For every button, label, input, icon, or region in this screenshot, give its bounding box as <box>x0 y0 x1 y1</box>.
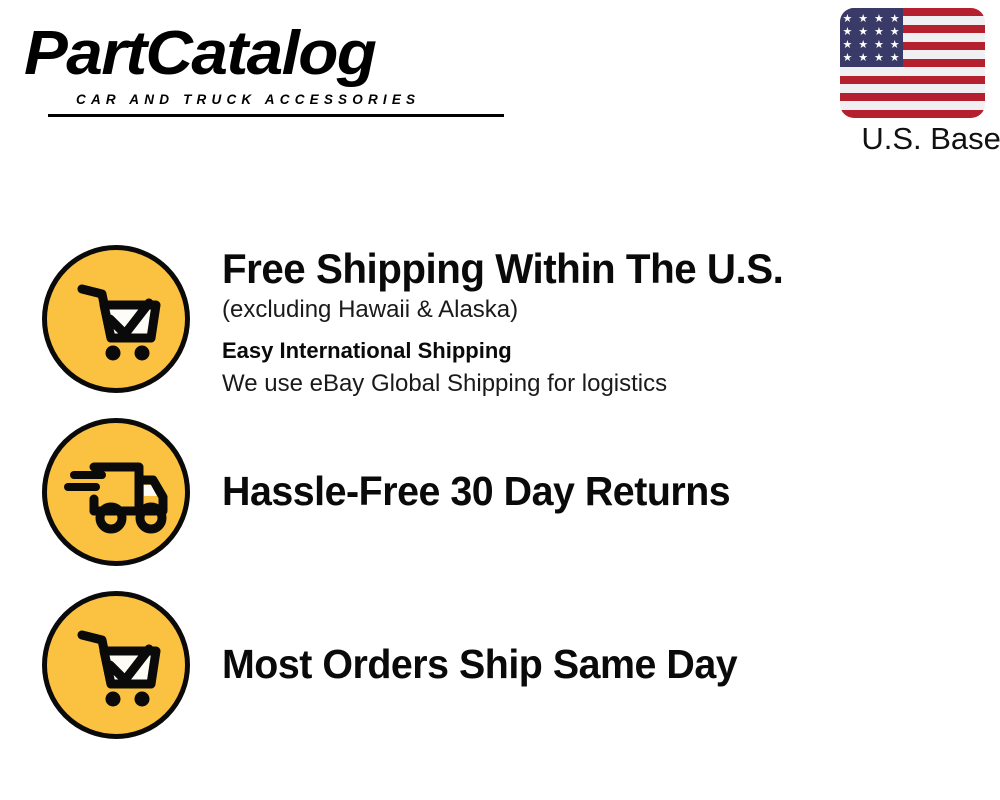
feature-headline: Free Shipping Within The U.S. <box>222 245 952 293</box>
feature-text-block: Most Orders Ship Same Day <box>222 639 982 689</box>
feature-sub-detail: We use eBay Global Shipping for logistic… <box>222 367 982 401</box>
feature-subline: (excluding Hawaii & Alaska) <box>222 293 982 327</box>
feature-headline: Hassle-Free 30 Day Returns <box>222 466 952 516</box>
feature-sub-heading: Easy International Shipping <box>222 335 982 367</box>
feature-text-block: Hassle-Free 30 Day Returns <box>222 466 982 516</box>
delivery-truck-icon <box>42 418 190 566</box>
promo-banner: PartCatalog CAR AND TRUCK ACCESSORIES ★ … <box>0 0 1000 800</box>
shopping-cart-check-icon <box>42 245 190 393</box>
feature-headline: Most Orders Ship Same Day <box>222 639 952 689</box>
shopping-cart-check-icon <box>42 591 190 739</box>
feature-text-block: Free Shipping Within The U.S. (excluding… <box>222 245 982 401</box>
feature-list: Free Shipping Within The U.S. (excluding… <box>0 0 1000 800</box>
